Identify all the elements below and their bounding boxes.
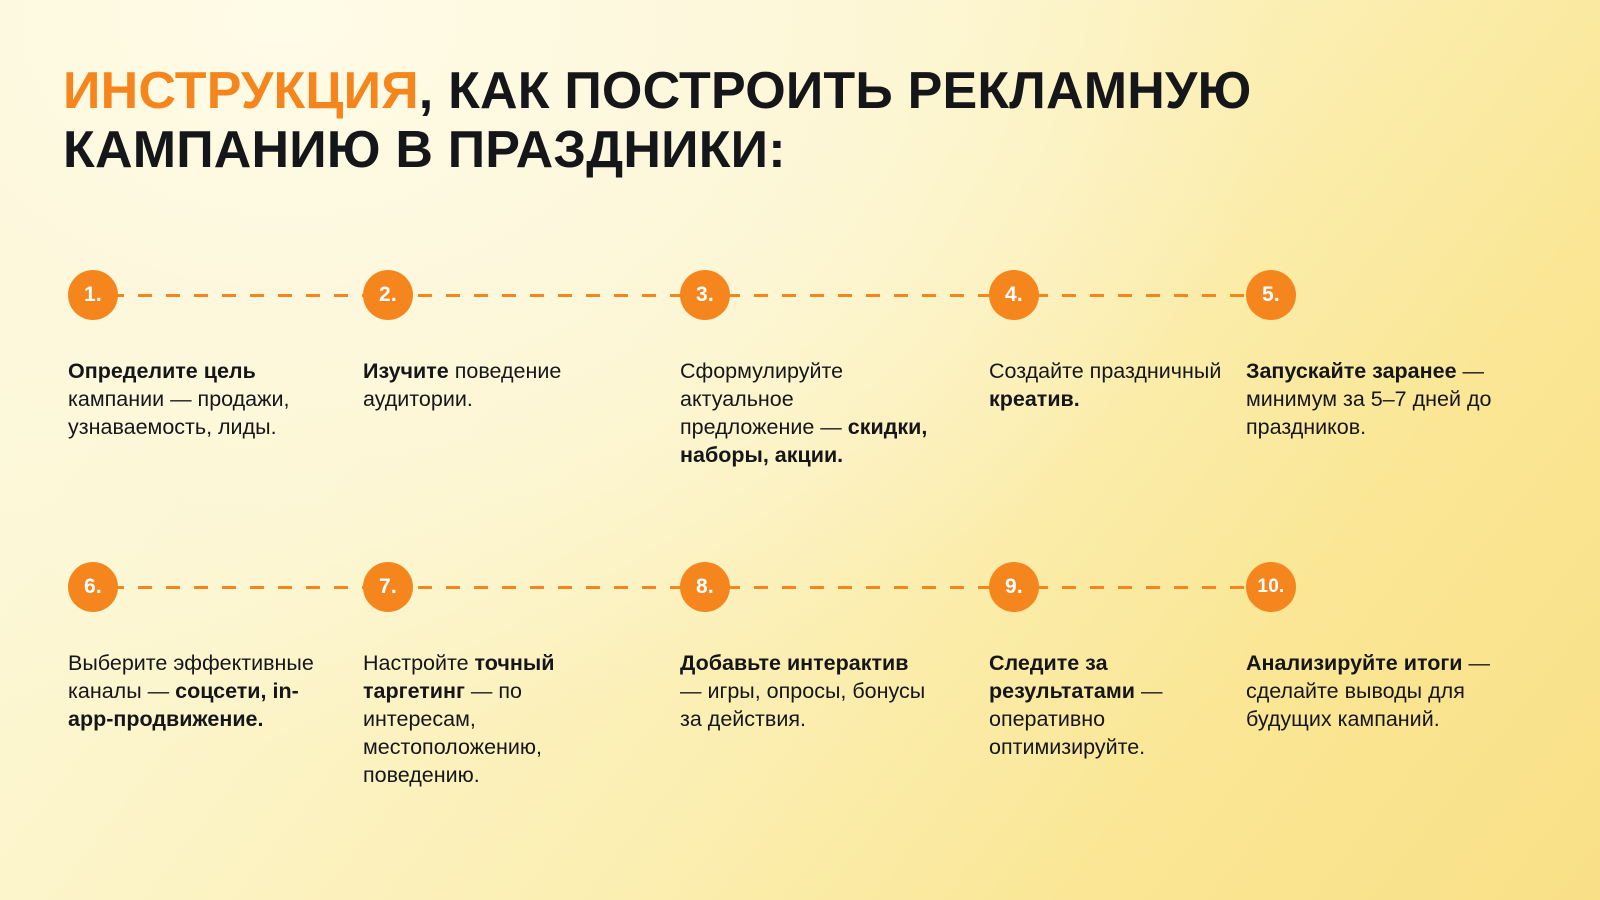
step-badge-8[interactable]: 8.	[680, 562, 730, 612]
step-badge-5[interactable]: 5.	[1246, 270, 1296, 320]
step-text-emphasis: Изучите	[363, 359, 449, 383]
step-badge-3[interactable]: 3.	[680, 270, 730, 320]
step-badge-1[interactable]: 1.	[68, 270, 118, 320]
step-text-9: Следите за результатами — оперативно опт…	[989, 650, 1241, 762]
infographic-page: ИНСТРУКЦИЯ, КАК ПОСТРОИТЬ РЕКЛАМНУЮ КАМП…	[0, 0, 1600, 900]
page-title: ИНСТРУКЦИЯ, КАК ПОСТРОИТЬ РЕКЛАМНУЮ КАМП…	[63, 62, 1363, 181]
timeline-track: 1. 2. 3. 4. 5.	[0, 270, 1600, 320]
step-text-emphasis: Запускайте заранее	[1246, 359, 1457, 383]
step-badge-6[interactable]: 6.	[68, 562, 118, 612]
step-text-emphasis: креатив.	[989, 387, 1080, 411]
step-text-plain: — игры, опросы, бонусы за действия.	[680, 679, 925, 731]
step-text-emphasis: Добавьте интерактив	[680, 651, 908, 675]
timeline-track: 6. 7. 8. 9. 10.	[0, 562, 1600, 612]
step-text-4: Создайте праздничный креатив.	[989, 358, 1241, 414]
step-text-emphasis: Определите цель	[68, 359, 256, 383]
step-badge-10[interactable]: 10.	[1246, 562, 1296, 612]
step-text-7: Настройте точный таргетинг — по интереса…	[363, 650, 615, 790]
step-text-10: Анализируйте итоги — сделайте выводы для…	[1246, 650, 1514, 734]
step-text-3: Сформулируйте актуальное предложение — с…	[680, 358, 932, 470]
step-text-plain: кампании — продажи, узнаваемость, лиды.	[68, 387, 290, 439]
step-text-1: Определите цель кампании — продажи, узна…	[68, 358, 320, 442]
step-text-5: Запускайте заранее — минимум за 5–7 дней…	[1246, 358, 1514, 442]
step-text-8: Добавьте интерактив — игры, опросы, бону…	[680, 650, 932, 734]
step-badge-7[interactable]: 7.	[363, 562, 413, 612]
step-badge-2[interactable]: 2.	[363, 270, 413, 320]
step-badge-9[interactable]: 9.	[989, 562, 1039, 612]
step-text-6: Выберите эффективные каналы — соцсети, i…	[68, 650, 320, 734]
step-text-plain: Сформулируйте актуальное предложение —	[680, 359, 848, 439]
step-badge-4[interactable]: 4.	[989, 270, 1039, 320]
step-text-plain: Создайте праздничный	[989, 359, 1221, 383]
step-text-emphasis: Анализируйте итоги	[1246, 651, 1463, 675]
step-text-2: Изучите поведение аудитории.	[363, 358, 615, 414]
step-text-plain: Настройте	[363, 651, 475, 675]
title-accent-word: ИНСТРУКЦИЯ	[63, 62, 419, 120]
step-text-emphasis: Следите за результатами	[989, 651, 1135, 703]
